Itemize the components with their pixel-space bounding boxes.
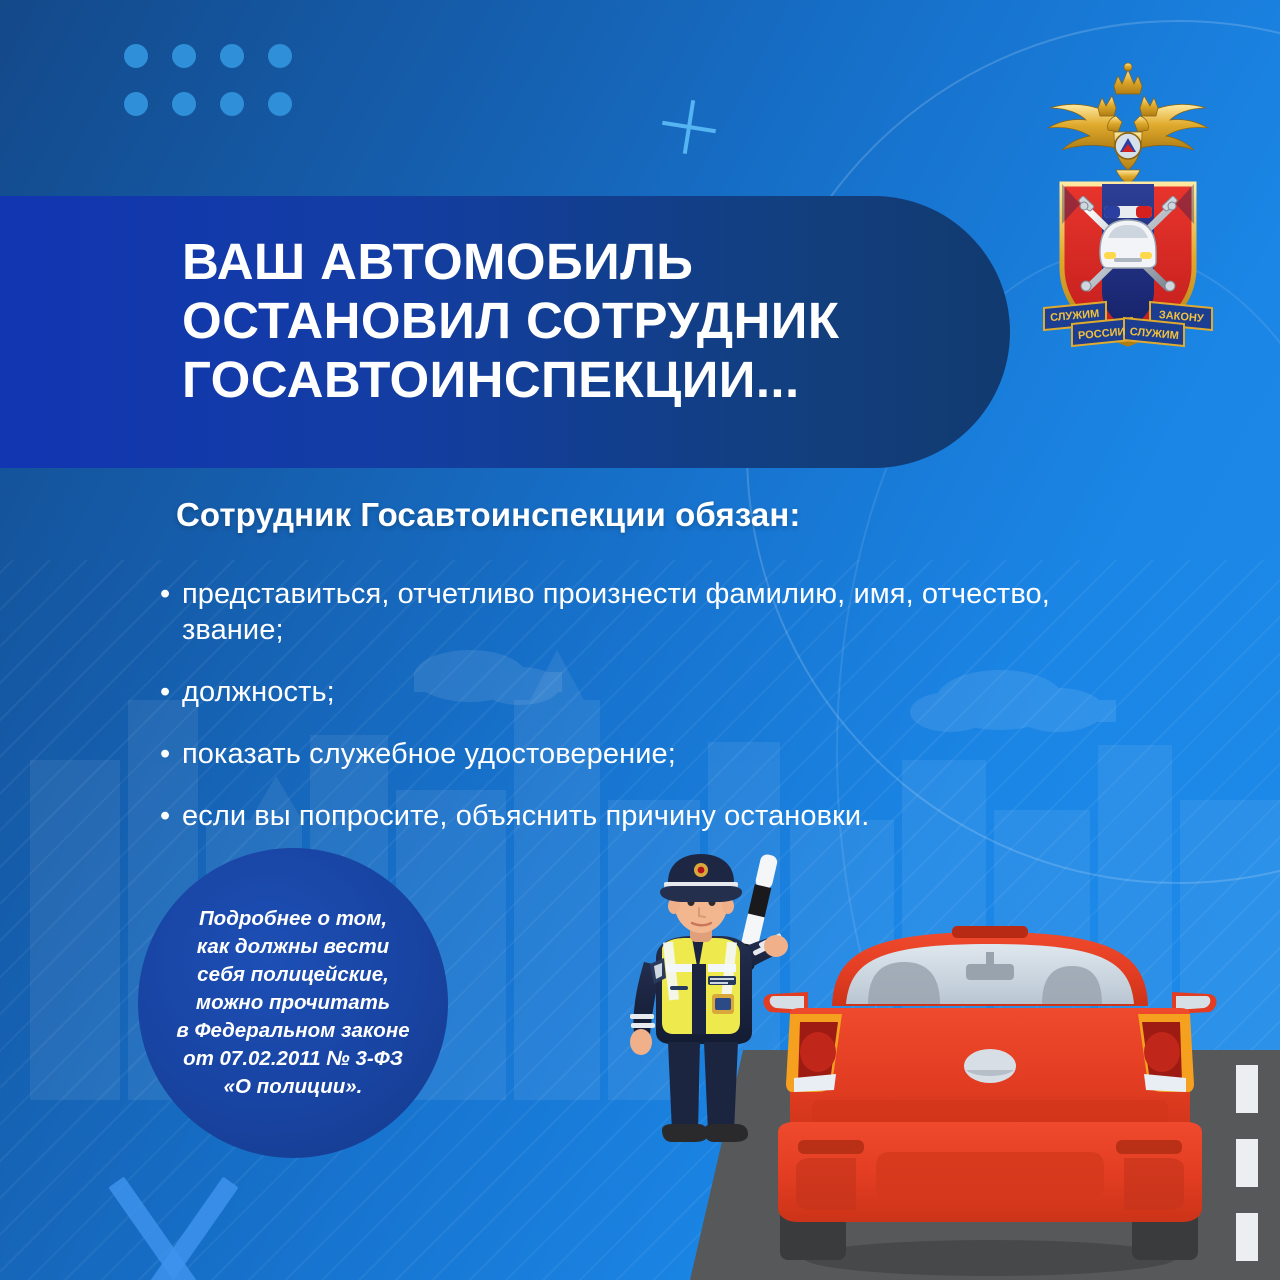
footnote-line: себя полицейские, (197, 963, 389, 986)
footnote-line: в Федеральном законе (176, 1019, 409, 1042)
red-car-illustration (760, 918, 1220, 1280)
list-item: показать служебное удостоверение; (160, 736, 1120, 772)
footnote-line: Подробнее о том, (199, 907, 387, 930)
lane-marking (1236, 1065, 1258, 1280)
footnote-line: «О полиции». (224, 1075, 363, 1098)
list-item: представиться, отчетливо произнести фами… (160, 576, 1120, 648)
footnote-badge: Подробнее о том, как должны вести себя п… (138, 848, 448, 1158)
footnote-line: от 07.02.2011 № 3-ФЗ (183, 1047, 403, 1070)
poster-root: ВАШ АВТОМОБИЛЬ ОСТАНОВИЛ СОТРУДНИК ГОСАВ… (0, 0, 1280, 1280)
list-item: должность; (160, 674, 1120, 710)
plus-decoration-icon (658, 96, 720, 158)
footnote-line: можно прочитать (196, 991, 390, 1014)
footnote-text: Подробнее о том, как должны вести себя п… (157, 905, 429, 1101)
duties-list: представиться, отчетливо произнести фами… (160, 576, 1120, 860)
police-officer-illustration (600, 846, 820, 1176)
title-banner: ВАШ АВТОМОБИЛЬ ОСТАНОВИЛ СОТРУДНИК ГОСАВ… (0, 196, 1010, 468)
dot-grid-decoration (124, 44, 316, 140)
x-decoration-icon (86, 1182, 266, 1280)
list-item: если вы попросите, объяснить причину ост… (160, 798, 1120, 834)
footnote-line: как должны вести (197, 935, 389, 958)
section-subtitle: Сотрудник Госавтоинспекции обязан: (176, 496, 800, 534)
mvd-emblem-icon: СЛУЖИМ ЗАКОНУ РОССИИ СЛУЖИМ (1028, 56, 1228, 356)
page-title: ВАШ АВТОМОБИЛЬ ОСТАНОВИЛ СОТРУДНИК ГОСАВ… (182, 232, 962, 409)
